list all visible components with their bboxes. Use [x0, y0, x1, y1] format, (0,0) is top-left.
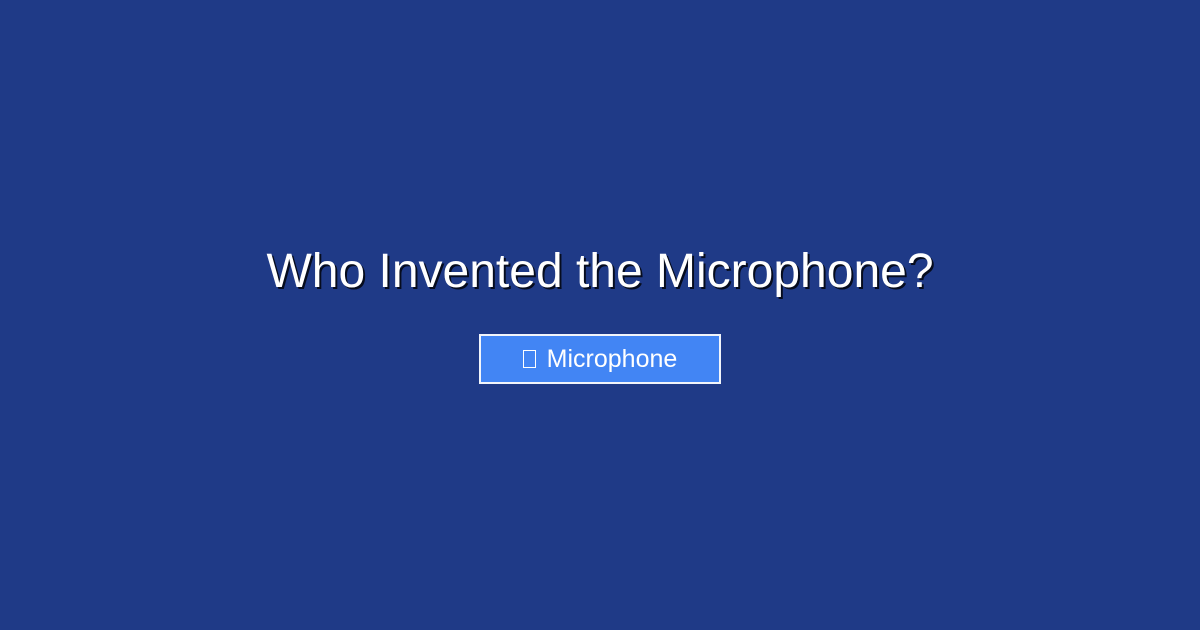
content-container: Who Invented the Microphone? Microphone [0, 246, 1200, 385]
topic-button-label: Microphone [547, 347, 678, 372]
page-root: Who Invented the Microphone? Microphone [0, 0, 1200, 630]
microphone-icon [523, 350, 536, 368]
page-title: Who Invented the Microphone? [266, 246, 933, 299]
topic-button-microphone[interactable]: Microphone [479, 334, 721, 384]
